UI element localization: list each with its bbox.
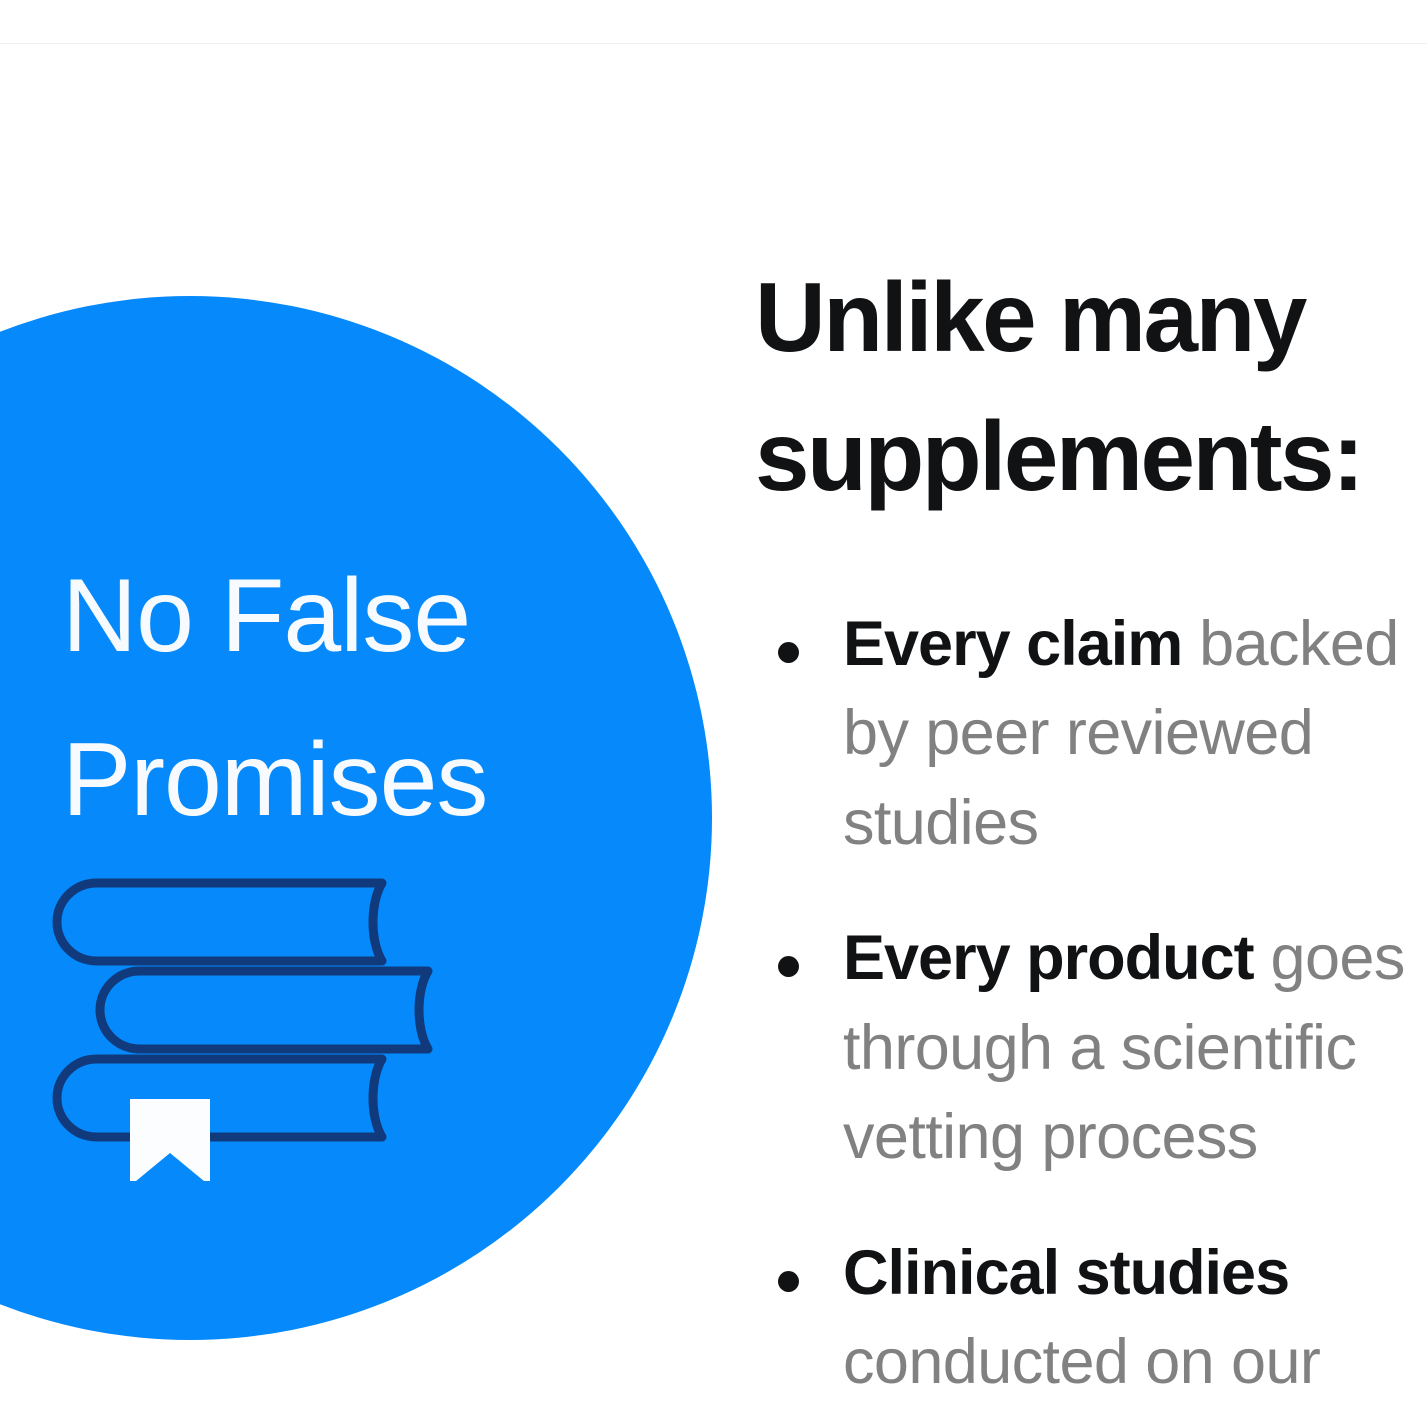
bullet-icon xyxy=(778,642,799,663)
list-item: Every product goes through a scientific … xyxy=(755,914,1427,1182)
page-title: Unlike many supplements: xyxy=(755,248,1427,526)
list-item: Clinical studies conducted on our hero p… xyxy=(755,1229,1427,1427)
bullet-icon xyxy=(778,956,799,977)
headline-line-1: Unlike many xyxy=(755,248,1427,387)
badge-title-line-2: Promises xyxy=(62,698,702,862)
bookmark-ribbon xyxy=(130,1099,210,1181)
no-false-promises-badge: No False Promises xyxy=(0,296,712,1340)
claim-text: Every claim backed by peer reviewed stud… xyxy=(843,609,1399,858)
copy-column: Unlike many supplements: Every claim bac… xyxy=(755,182,1427,1427)
stacked-books-icon xyxy=(52,841,452,1181)
promo-card: No False Promises xyxy=(0,0,1427,1427)
badge-title-line-1: No False xyxy=(62,534,702,698)
bullet-icon xyxy=(778,1271,799,1292)
claim-lead: Every claim xyxy=(843,609,1182,679)
claim-text: Every product goes through a scientific … xyxy=(843,923,1405,1172)
claim-lead: Clinical studies xyxy=(843,1238,1289,1308)
headline-line-2: supplements: xyxy=(755,387,1427,526)
claim-lead: Every product xyxy=(843,923,1254,993)
claim-text: Clinical studies conducted on our hero p… xyxy=(843,1238,1320,1427)
claims-list: Every claim backed by peer reviewed stud… xyxy=(755,600,1427,1427)
badge-content: No False Promises xyxy=(0,296,712,1340)
top-divider xyxy=(0,43,1427,44)
list-item: Every claim backed by peer reviewed stud… xyxy=(755,600,1427,868)
badge-title: No False Promises xyxy=(62,534,702,863)
claim-detail: conducted on our hero products xyxy=(843,1327,1320,1427)
